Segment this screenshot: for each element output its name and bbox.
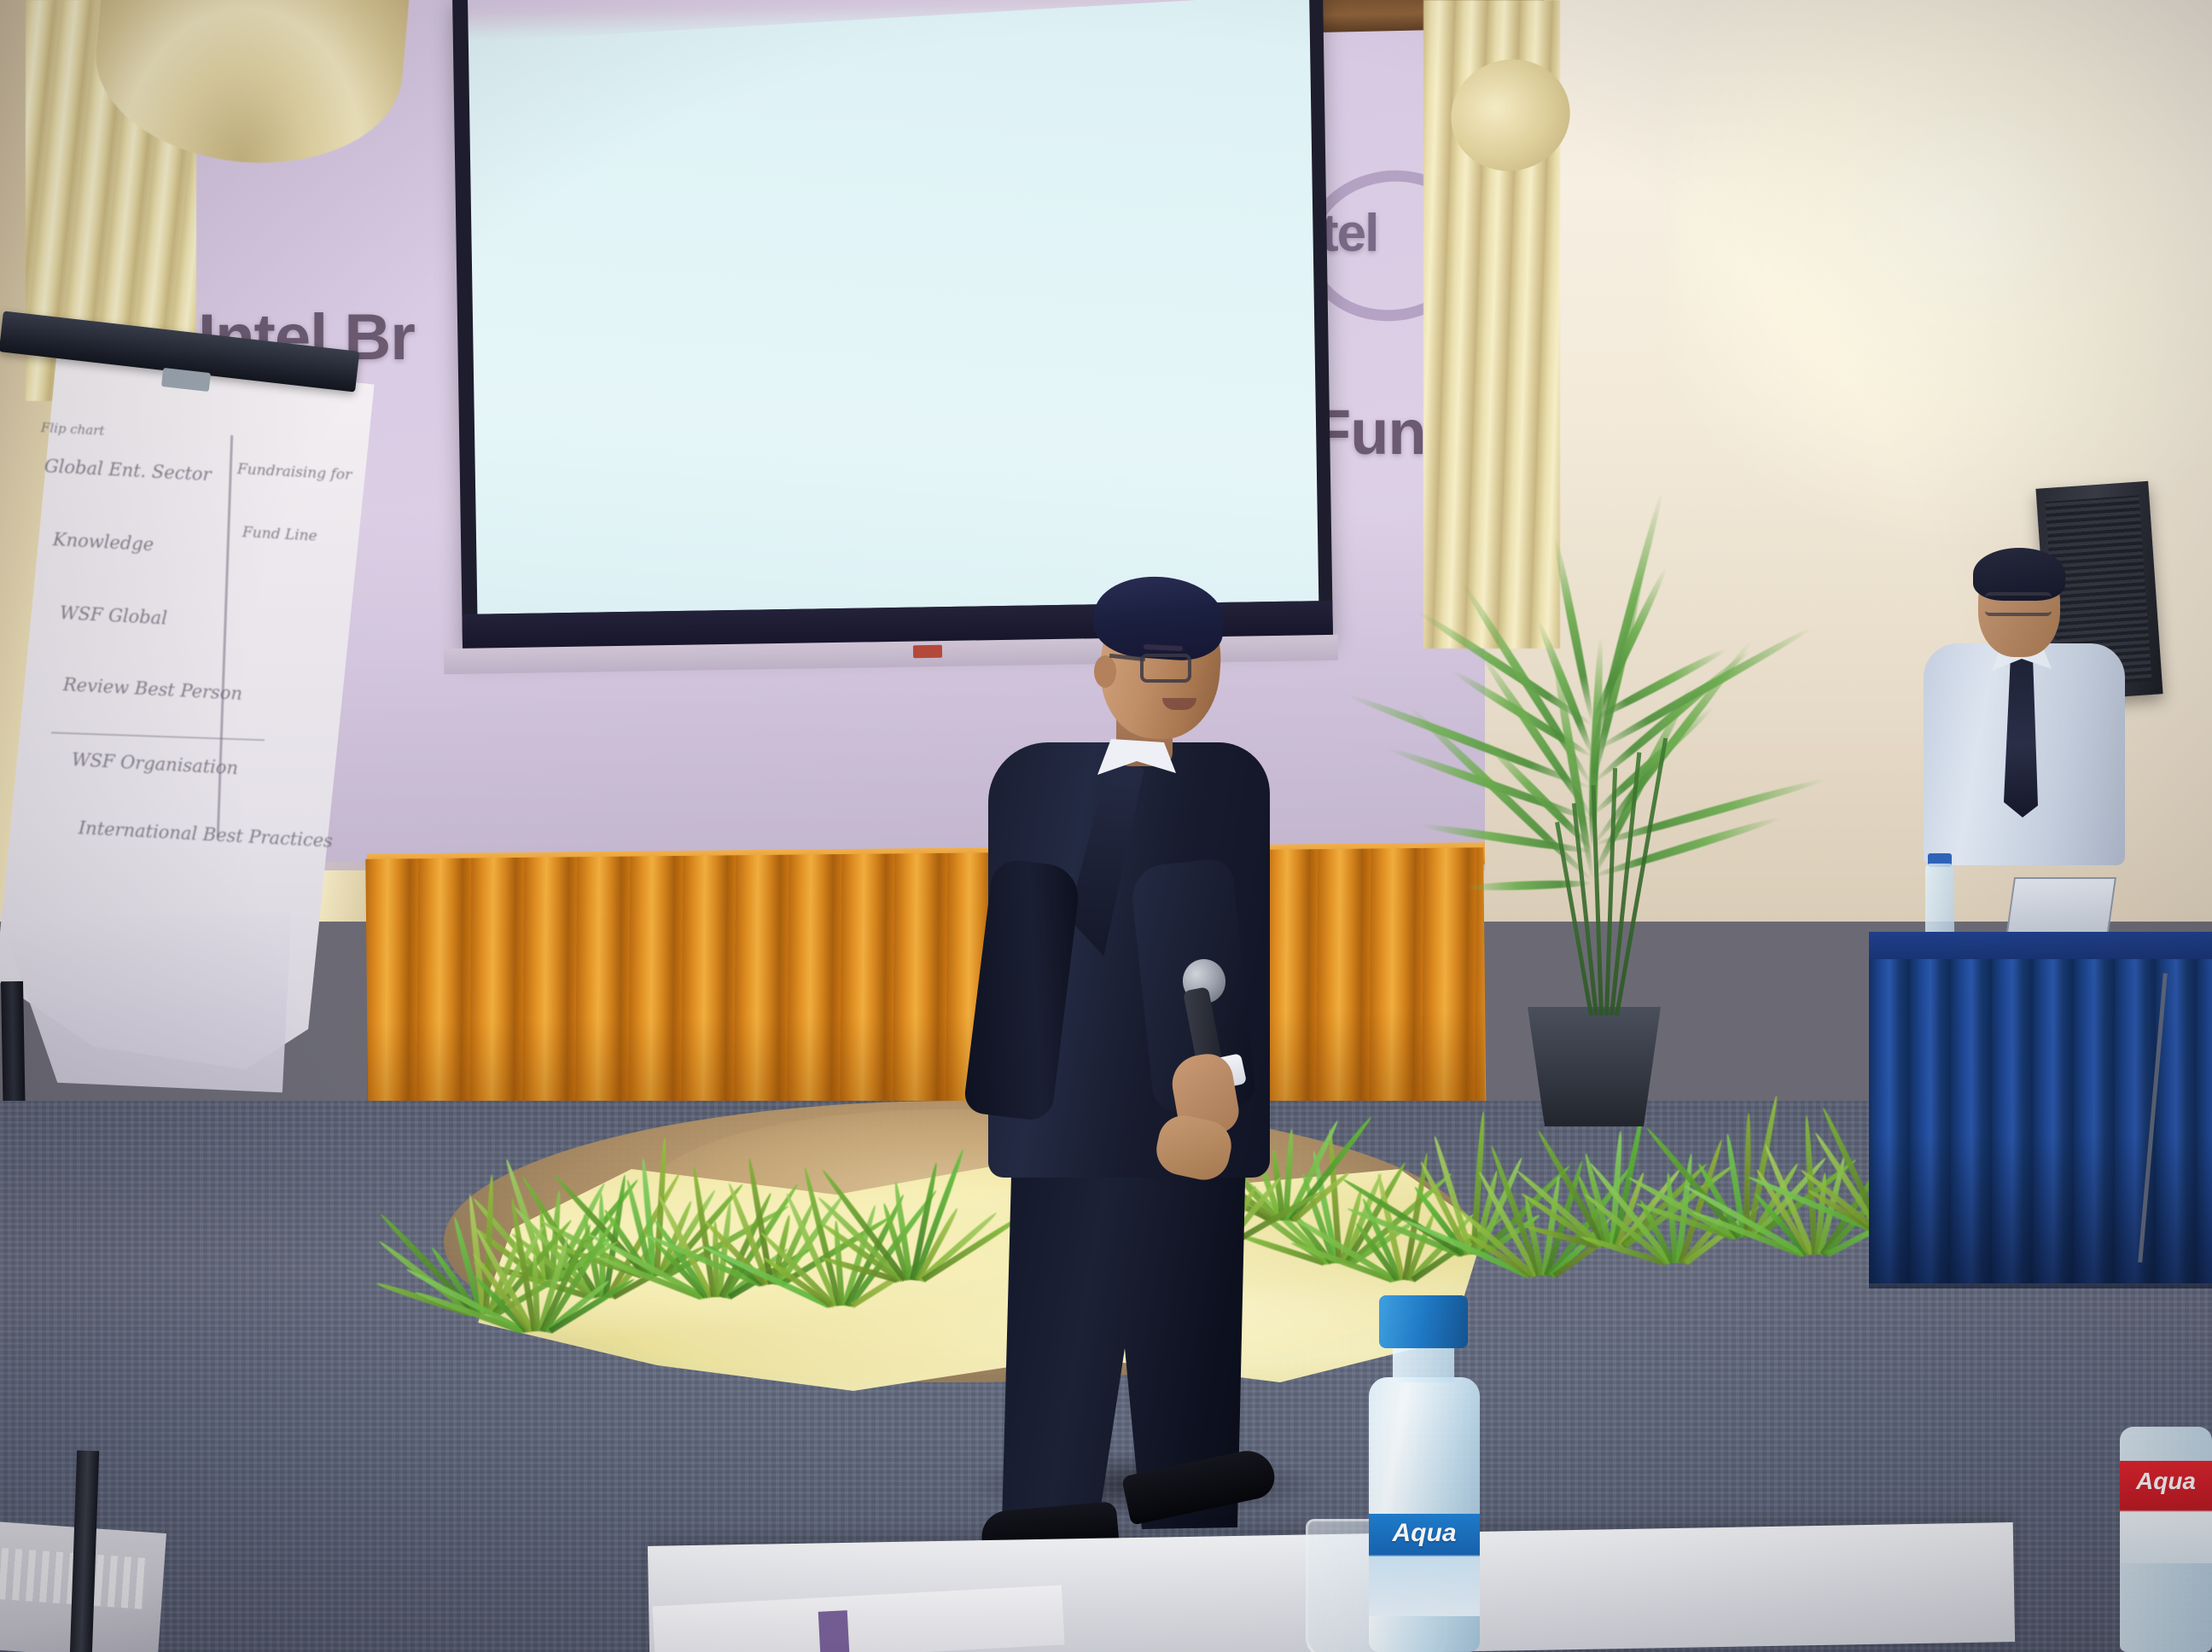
attendee-glasses-icon xyxy=(1985,592,2052,616)
water-bottle: Aqua xyxy=(1360,1295,1488,1652)
water-bottle-right-label-text: Aqua xyxy=(2122,1468,2210,1495)
presenter-table-shadow xyxy=(1869,1135,2212,1288)
water-bottle-neck xyxy=(1393,1345,1454,1382)
document-marker xyxy=(818,1610,850,1652)
water-bottle-label-text: Aqua xyxy=(1374,1519,1475,1548)
presenter-ear xyxy=(1094,655,1116,688)
photo-scene: Intel Br tel Fund Flip chart Global Ent.… xyxy=(0,0,2212,1652)
palm-frond xyxy=(1464,879,1592,892)
water-bottle-cap xyxy=(1379,1295,1468,1348)
water-bottle-right: Aqua xyxy=(2120,1427,2212,1652)
presenter-glasses-icon xyxy=(1140,654,1191,683)
presenter xyxy=(973,580,1297,1485)
